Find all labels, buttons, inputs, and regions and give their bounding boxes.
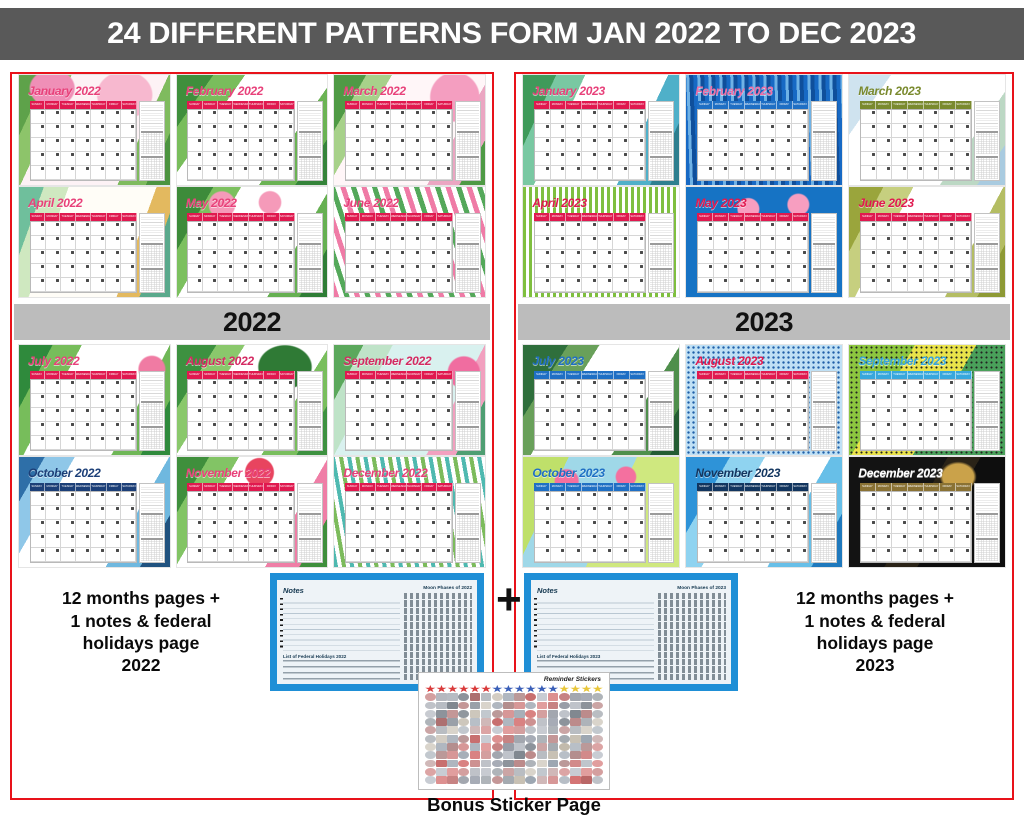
sticker-icon	[548, 743, 559, 751]
sticker-icon	[514, 776, 525, 784]
sticker-icon	[570, 718, 581, 726]
calendar-month-title: January 2023	[532, 84, 604, 98]
calendar-date-grid	[345, 491, 453, 562]
calendar-thumbnail[interactable]: November 2023SUNDAYMONDAYTUESDAYWEDNESDA…	[685, 456, 843, 568]
federal-holidays-title: List of Federal Holidays 2022	[283, 654, 400, 659]
calendar-thumbnail[interactable]: August 2023SUNDAYMONDAYTUESDAYWEDNESDAYT…	[685, 344, 843, 456]
sticker-icon	[559, 685, 570, 693]
sticker-icon	[470, 743, 481, 751]
sticker-icon	[492, 702, 503, 710]
calendar-side-notes	[297, 101, 323, 180]
calendar-month-title: July 2022	[28, 354, 79, 368]
calendar-thumbnail[interactable]: June 2023SUNDAYMONDAYTUESDAYWEDNESDAYTHU…	[848, 186, 1006, 298]
calendar-thumbnail[interactable]: April 2023SUNDAYMONDAYTUESDAYWEDNESDAYTH…	[522, 186, 680, 298]
calendar-day-header-bar: SUNDAYMONDAYTUESDAYWEDNESDAYTHURSDAYFRID…	[534, 101, 646, 109]
sticker-icon	[537, 685, 548, 693]
calendar-date-grid	[187, 491, 295, 562]
sticker-icon	[559, 693, 570, 701]
sticker-icon	[537, 710, 548, 718]
blurb-text-2023: 12 months pages +1 notes & federalholida…	[746, 587, 1004, 677]
sticker-icon	[470, 776, 481, 784]
calendar-month-title: July 2023	[532, 354, 583, 368]
sticker-icon	[581, 751, 592, 759]
calendar-month-title: December 2023	[858, 466, 942, 480]
blurb-text-2022: 12 months pages +1 notes & federalholida…	[20, 587, 262, 677]
moon-phases-title: Moon Phases of 2022	[404, 586, 472, 591]
sticker-icon	[592, 710, 603, 718]
sticker-icon	[447, 702, 458, 710]
sticker-icon	[559, 735, 570, 743]
sticker-icon	[436, 685, 447, 693]
year-band-2023: 2023	[518, 304, 1010, 340]
blurb-line: 12 months pages +	[746, 587, 1004, 609]
sticker-icon	[470, 751, 481, 759]
sticker-icon	[525, 768, 536, 776]
calendar-side-notes	[648, 101, 675, 180]
sticker-icon	[425, 760, 436, 768]
sticker-icon	[458, 743, 469, 751]
sticker-icon	[436, 768, 447, 776]
calendar-date-grid	[345, 379, 453, 450]
sticker-icon	[492, 751, 503, 759]
product-infographic: 24 DIFFERENT PATTERNS FORM JAN 2022 TO D…	[0, 0, 1024, 840]
calendar-date-grid	[534, 491, 646, 562]
sticker-icon	[447, 776, 458, 784]
sticker-icon	[436, 726, 447, 734]
sticker-icon	[470, 726, 481, 734]
sticker-icon	[436, 743, 447, 751]
calendar-side-notes	[974, 213, 1001, 292]
plus-separator-icon: +	[496, 578, 522, 622]
page-title: 24 DIFFERENT PATTERNS FORM JAN 2022 TO D…	[108, 17, 917, 51]
calendar-day-header-bar: SUNDAYMONDAYTUESDAYWEDNESDAYTHURSDAYFRID…	[534, 371, 646, 379]
calendar-date-grid	[30, 379, 138, 450]
sticker-icon	[492, 735, 503, 743]
sticker-icon	[559, 702, 570, 710]
notes-lines	[283, 598, 400, 651]
calendar-side-notes	[648, 213, 675, 292]
calendar-date-grid	[187, 109, 295, 180]
calendar-side-notes	[297, 371, 323, 450]
sticker-icon	[548, 685, 559, 693]
calendar-day-header-bar: SUNDAYMONDAYTUESDAYWEDNESDAYTHURSDAYFRID…	[30, 213, 138, 221]
sticker-icon	[481, 743, 492, 751]
sticker-icon	[447, 726, 458, 734]
sticker-icon	[436, 702, 447, 710]
sticker-icon	[559, 768, 570, 776]
sticker-icon	[592, 751, 603, 759]
calendar-day-header-bar: SUNDAYMONDAYTUESDAYWEDNESDAYTHURSDAYFRID…	[345, 483, 453, 491]
calendar-month-title: October 2023	[532, 466, 604, 480]
sticker-icon	[548, 760, 559, 768]
calendar-month-title: November 2022	[186, 466, 271, 480]
sticker-icon	[436, 760, 447, 768]
sticker-icon	[436, 776, 447, 784]
sticker-icon	[559, 751, 570, 759]
notes-label: Notes	[283, 586, 400, 595]
reminder-stickers-title: Reminder Stickers	[544, 676, 601, 683]
sticker-icon	[581, 760, 592, 768]
calendar-month-title: June 2022	[343, 196, 398, 210]
sticker-icon	[503, 685, 514, 693]
blurb-line: holidays page	[20, 632, 262, 654]
calendar-date-grid	[697, 221, 809, 292]
sticker-icon	[592, 693, 603, 701]
calendar-day-header-bar: SUNDAYMONDAYTUESDAYWEDNESDAYTHURSDAYFRID…	[697, 101, 809, 109]
sticker-icon	[548, 693, 559, 701]
sticker-icon	[470, 718, 481, 726]
calendar-thumbnail[interactable]: April 2022SUNDAYMONDAYTUESDAYWEDNESDAYTH…	[18, 186, 171, 298]
calendar-thumbnail[interactable]: July 2022SUNDAYMONDAYTUESDAYWEDNESDAYTHU…	[18, 344, 171, 456]
sticker-icon	[514, 743, 525, 751]
sticker-icon	[481, 726, 492, 734]
calendar-thumbnail[interactable]: December 2023SUNDAYMONDAYTUESDAYWEDNESDA…	[848, 456, 1006, 568]
calendar-side-notes	[455, 101, 481, 180]
sticker-icon	[592, 726, 603, 734]
sticker-icon	[581, 726, 592, 734]
bonus-sticker-block: Reminder Stickers Bonus Sticker Page	[414, 672, 614, 816]
header-banner: 24 DIFFERENT PATTERNS FORM JAN 2022 TO D…	[0, 8, 1024, 60]
calendar-date-grid	[697, 379, 809, 450]
calendar-side-notes	[811, 101, 838, 180]
calendar-side-notes	[297, 213, 323, 292]
calendar-day-header-bar: SUNDAYMONDAYTUESDAYWEDNESDAYTHURSDAYFRID…	[30, 101, 138, 109]
sticker-icon	[481, 702, 492, 710]
sticker-icon	[425, 743, 436, 751]
sticker-icon	[458, 760, 469, 768]
blurb-line: 1 notes & federal	[20, 610, 262, 632]
sticker-icon	[458, 735, 469, 743]
calendar-row-2023-q3: July 2023SUNDAYMONDAYTUESDAYWEDNESDAYTHU…	[516, 344, 1012, 456]
calendar-day-header-bar: SUNDAYMONDAYTUESDAYWEDNESDAYTHURSDAYFRID…	[187, 213, 295, 221]
sticker-icon	[492, 710, 503, 718]
sticker-icon	[559, 718, 570, 726]
calendar-month-title: January 2022	[28, 84, 100, 98]
sticker-icon	[425, 726, 436, 734]
blurb-line: 2023	[746, 654, 1004, 676]
calendar-month-title: August 2023	[695, 354, 763, 368]
calendar-month-title: October 2022	[28, 466, 100, 480]
calendar-thumbnail[interactable]: June 2022SUNDAYMONDAYTUESDAYWEDNESDAYTHU…	[333, 186, 486, 298]
sticker-icon	[559, 726, 570, 734]
calendar-thumbnail[interactable]: March 2022SUNDAYMONDAYTUESDAYWEDNESDAYTH…	[333, 74, 486, 186]
calendar-side-notes	[455, 213, 481, 292]
sticker-icon	[548, 718, 559, 726]
calendar-month-title: May 2023	[695, 196, 746, 210]
sticker-icon	[570, 743, 581, 751]
sticker-icon	[481, 693, 492, 701]
calendar-day-header-bar: SUNDAYMONDAYTUESDAYWEDNESDAYTHURSDAYFRID…	[697, 213, 809, 221]
sticker-icon	[537, 735, 548, 743]
calendar-side-notes	[455, 371, 481, 450]
sticker-icon	[525, 751, 536, 759]
calendar-side-notes	[811, 213, 838, 292]
sticker-icon	[458, 710, 469, 718]
sticker-icon	[458, 726, 469, 734]
sticker-icon	[492, 768, 503, 776]
sticker-icon	[458, 693, 469, 701]
sticker-icon	[447, 735, 458, 743]
calendar-day-header-bar: SUNDAYMONDAYTUESDAYWEDNESDAYTHURSDAYFRID…	[860, 483, 972, 491]
sticker-icon	[492, 685, 503, 693]
sticker-icon	[570, 726, 581, 734]
sticker-icon	[537, 751, 548, 759]
calendar-thumbnail[interactable]: September 2022SUNDAYMONDAYTUESDAYWEDNESD…	[333, 344, 486, 456]
calendar-thumbnail[interactable]: August 2022SUNDAYMONDAYTUESDAYWEDNESDAYT…	[176, 344, 329, 456]
sticker-icon	[581, 743, 592, 751]
calendar-side-notes	[811, 483, 838, 562]
sticker-icon	[481, 751, 492, 759]
sticker-icon	[425, 693, 436, 701]
moon-phases-title: Moon Phases of 2023	[658, 586, 726, 591]
calendar-day-header-bar: SUNDAYMONDAYTUESDAYWEDNESDAYTHURSDAYFRID…	[345, 101, 453, 109]
calendar-day-header-bar: SUNDAYMONDAYTUESDAYWEDNESDAYTHURSDAYFRID…	[187, 483, 295, 491]
calendar-date-grid	[30, 109, 138, 180]
sticker-icon	[548, 726, 559, 734]
sticker-icon	[470, 685, 481, 693]
bonus-sticker-caption: Bonus Sticker Page	[414, 794, 614, 816]
calendar-row-2022-q4: October 2022SUNDAYMONDAYTUESDAYWEDNESDAY…	[12, 456, 492, 568]
calendar-side-notes	[974, 101, 1001, 180]
calendar-row-2022-q1: January 2022SUNDAYMONDAYTUESDAYWEDNESDAY…	[12, 74, 492, 186]
calendar-day-header-bar: SUNDAYMONDAYTUESDAYWEDNESDAYTHURSDAYFRID…	[697, 371, 809, 379]
calendar-day-header-bar: SUNDAYMONDAYTUESDAYWEDNESDAYTHURSDAYFRID…	[534, 213, 646, 221]
calendar-thumbnail[interactable]: May 2023SUNDAYMONDAYTUESDAYWEDNESDAYTHUR…	[685, 186, 843, 298]
sticker-icon	[548, 776, 559, 784]
sticker-icon	[470, 702, 481, 710]
sticker-icon	[481, 735, 492, 743]
year-band-2022: 2022	[14, 304, 490, 340]
sticker-icon	[514, 760, 525, 768]
sticker-icon	[436, 735, 447, 743]
calendar-day-header-bar: SUNDAYMONDAYTUESDAYWEDNESDAYTHURSDAYFRID…	[534, 483, 646, 491]
calendar-month-title: May 2022	[186, 196, 237, 210]
sticker-icon	[514, 718, 525, 726]
calendar-thumbnail[interactable]: October 2023SUNDAYMONDAYTUESDAYWEDNESDAY…	[522, 456, 680, 568]
calendar-thumbnail[interactable]: September 2023SUNDAYMONDAYTUESDAYWEDNESD…	[848, 344, 1006, 456]
sticker-icon	[425, 735, 436, 743]
sticker-icon	[492, 743, 503, 751]
sticker-icon	[514, 693, 525, 701]
calendar-date-grid	[860, 491, 972, 562]
calendar-side-notes	[139, 101, 165, 180]
calendar-month-title: March 2022	[343, 84, 405, 98]
sticker-icon	[525, 710, 536, 718]
sticker-icon	[525, 685, 536, 693]
sticker-sheet-thumbnail: Reminder Stickers	[418, 672, 610, 790]
sticker-icon	[447, 760, 458, 768]
sticker-icon	[570, 735, 581, 743]
sticker-icon	[503, 702, 514, 710]
sticker-icon	[425, 751, 436, 759]
federal-holidays-grid	[283, 660, 400, 680]
calendar-thumbnail[interactable]: November 2022SUNDAYMONDAYTUESDAYWEDNESDA…	[176, 456, 329, 568]
sticker-icon	[425, 718, 436, 726]
sticker-icon	[470, 710, 481, 718]
sticker-icon	[503, 768, 514, 776]
sticker-icon	[581, 776, 592, 784]
calendar-month-title: February 2023	[695, 84, 772, 98]
sticker-icon	[447, 751, 458, 759]
sticker-icon	[503, 735, 514, 743]
calendar-date-grid	[697, 491, 809, 562]
sticker-icon	[537, 743, 548, 751]
sticker-icon	[537, 693, 548, 701]
calendar-side-notes	[139, 213, 165, 292]
calendar-date-grid	[345, 109, 453, 180]
sticker-icon	[514, 768, 525, 776]
calendar-month-title: September 2023	[858, 354, 946, 368]
sticker-icon	[514, 735, 525, 743]
sticker-icon	[548, 735, 559, 743]
sticker-icon	[548, 702, 559, 710]
sticker-icon	[570, 685, 581, 693]
sticker-icon	[559, 776, 570, 784]
sticker-icon	[581, 702, 592, 710]
sticker-icon	[592, 735, 603, 743]
calendar-thumbnail[interactable]: December 2022SUNDAYMONDAYTUESDAYWEDNESDA…	[333, 456, 486, 568]
sticker-icon	[503, 726, 514, 734]
calendar-side-notes	[139, 483, 165, 562]
calendar-date-grid	[534, 221, 646, 292]
sticker-icon	[514, 702, 525, 710]
sticker-icon	[514, 751, 525, 759]
calendar-month-title: November 2023	[695, 466, 780, 480]
blurb-line: holidays page	[746, 632, 1004, 654]
calendar-month-title: April 2023	[532, 196, 586, 210]
sticker-icon	[481, 776, 492, 784]
sticker-icon	[492, 718, 503, 726]
calendar-month-title: February 2022	[186, 84, 263, 98]
sticker-icon	[559, 743, 570, 751]
notes-lines	[537, 598, 654, 651]
sticker-icon	[581, 735, 592, 743]
sticker-icon	[447, 718, 458, 726]
sticker-icon	[592, 776, 603, 784]
calendar-thumbnail[interactable]: February 2022SUNDAYMONDAYTUESDAYWEDNESDA…	[176, 74, 329, 186]
sticker-icon	[481, 760, 492, 768]
sticker-icon	[458, 776, 469, 784]
sticker-icon	[447, 685, 458, 693]
sticker-icon	[525, 760, 536, 768]
calendar-month-title: August 2022	[186, 354, 254, 368]
sticker-icon	[570, 702, 581, 710]
calendar-date-grid	[860, 221, 972, 292]
calendar-date-grid	[30, 221, 138, 292]
sticker-icon	[514, 710, 525, 718]
sticker-icon	[592, 685, 603, 693]
calendar-thumbnail[interactable]: January 2022SUNDAYMONDAYTUESDAYWEDNESDAY…	[18, 74, 171, 186]
sticker-icon	[525, 735, 536, 743]
sticker-icon	[537, 702, 548, 710]
sticker-icon	[425, 685, 436, 693]
sticker-icon	[514, 726, 525, 734]
sticker-icon	[447, 710, 458, 718]
sticker-icon	[447, 693, 458, 701]
sticker-icon	[447, 743, 458, 751]
calendar-row-2022-q2: April 2022SUNDAYMONDAYTUESDAYWEDNESDAYTH…	[12, 186, 492, 298]
calendar-side-notes	[648, 483, 675, 562]
sticker-icon	[492, 776, 503, 784]
year-label: 2022	[223, 307, 281, 338]
sticker-icon	[425, 768, 436, 776]
sticker-icon	[592, 760, 603, 768]
sticker-icon	[537, 718, 548, 726]
sticker-icon	[525, 718, 536, 726]
sticker-icon	[581, 693, 592, 701]
calendar-date-grid	[860, 379, 972, 450]
sticker-icon	[592, 743, 603, 751]
calendar-date-grid	[534, 379, 646, 450]
moon-phases-rows	[658, 593, 726, 680]
sticker-icon	[458, 718, 469, 726]
sticker-icon	[570, 710, 581, 718]
calendar-thumbnail[interactable]: May 2022SUNDAYMONDAYTUESDAYWEDNESDAYTHUR…	[176, 186, 329, 298]
calendar-date-grid	[860, 109, 972, 180]
calendar-side-notes	[139, 371, 165, 450]
sticker-icon	[559, 760, 570, 768]
sticker-icon	[436, 710, 447, 718]
sticker-icon	[570, 760, 581, 768]
calendar-side-notes	[974, 371, 1001, 450]
sticker-icon	[492, 726, 503, 734]
sticker-icon	[537, 768, 548, 776]
sticker-icon	[492, 693, 503, 701]
calendar-thumbnail[interactable]: July 2023SUNDAYMONDAYTUESDAYWEDNESDAYTHU…	[522, 344, 680, 456]
sticker-icon	[458, 702, 469, 710]
sticker-icon	[425, 776, 436, 784]
calendar-day-header-bar: SUNDAYMONDAYTUESDAYWEDNESDAYTHURSDAYFRID…	[860, 101, 972, 109]
blurb-line: 2022	[20, 654, 262, 676]
calendar-side-notes	[455, 483, 481, 562]
sticker-icon	[525, 693, 536, 701]
calendar-thumbnail[interactable]: February 2023SUNDAYMONDAYTUESDAYWEDNESDA…	[685, 74, 843, 186]
sticker-icon	[592, 718, 603, 726]
sticker-icon	[436, 718, 447, 726]
sticker-icon	[548, 751, 559, 759]
sticker-icon	[481, 710, 492, 718]
sticker-icon	[525, 726, 536, 734]
moon-phases-rows	[404, 593, 472, 680]
calendar-thumbnail[interactable]: January 2023SUNDAYMONDAYTUESDAYWEDNESDAY…	[522, 74, 680, 186]
sticker-icon	[425, 710, 436, 718]
sticker-icon	[436, 751, 447, 759]
calendar-row-2022-q3: July 2022SUNDAYMONDAYTUESDAYWEDNESDAYTHU…	[12, 344, 492, 456]
sticker-icon	[570, 768, 581, 776]
calendar-thumbnail[interactable]: October 2022SUNDAYMONDAYTUESDAYWEDNESDAY…	[18, 456, 171, 568]
calendar-side-notes	[297, 483, 323, 562]
sticker-icon	[481, 685, 492, 693]
blurb-line: 12 months pages +	[20, 587, 262, 609]
sticker-icon	[503, 718, 514, 726]
calendar-month-title: June 2023	[858, 196, 913, 210]
calendar-side-notes	[811, 371, 838, 450]
sticker-icon	[470, 760, 481, 768]
sticker-icon	[548, 768, 559, 776]
sticker-icon	[525, 776, 536, 784]
sticker-icon	[592, 768, 603, 776]
calendar-row-2023-q4: October 2023SUNDAYMONDAYTUESDAYWEDNESDAY…	[516, 456, 1012, 568]
sticker-icon	[503, 743, 514, 751]
calendar-day-header-bar: SUNDAYMONDAYTUESDAYWEDNESDAYTHURSDAYFRID…	[697, 483, 809, 491]
sticker-icon	[503, 751, 514, 759]
sticker-icon	[537, 760, 548, 768]
calendar-row-2023-q1: January 2023SUNDAYMONDAYTUESDAYWEDNESDAY…	[516, 74, 1012, 186]
sticker-icon	[581, 685, 592, 693]
sticker-icon	[548, 710, 559, 718]
federal-holidays-title: List of Federal Holidays 2023	[537, 654, 654, 659]
calendar-thumbnail[interactable]: March 2023SUNDAYMONDAYTUESDAYWEDNESDAYTH…	[848, 74, 1006, 186]
